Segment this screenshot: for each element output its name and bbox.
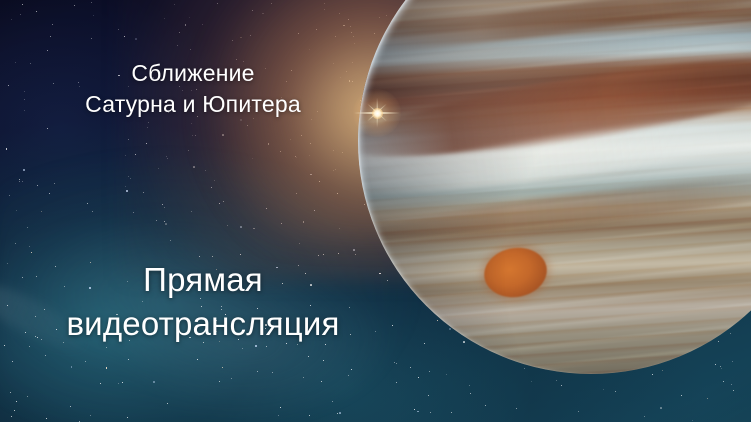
space-banner-canvas: Сближение Сатурна и Юпитера Прямая видео… xyxy=(0,0,751,422)
vignette-overlay xyxy=(0,0,751,422)
